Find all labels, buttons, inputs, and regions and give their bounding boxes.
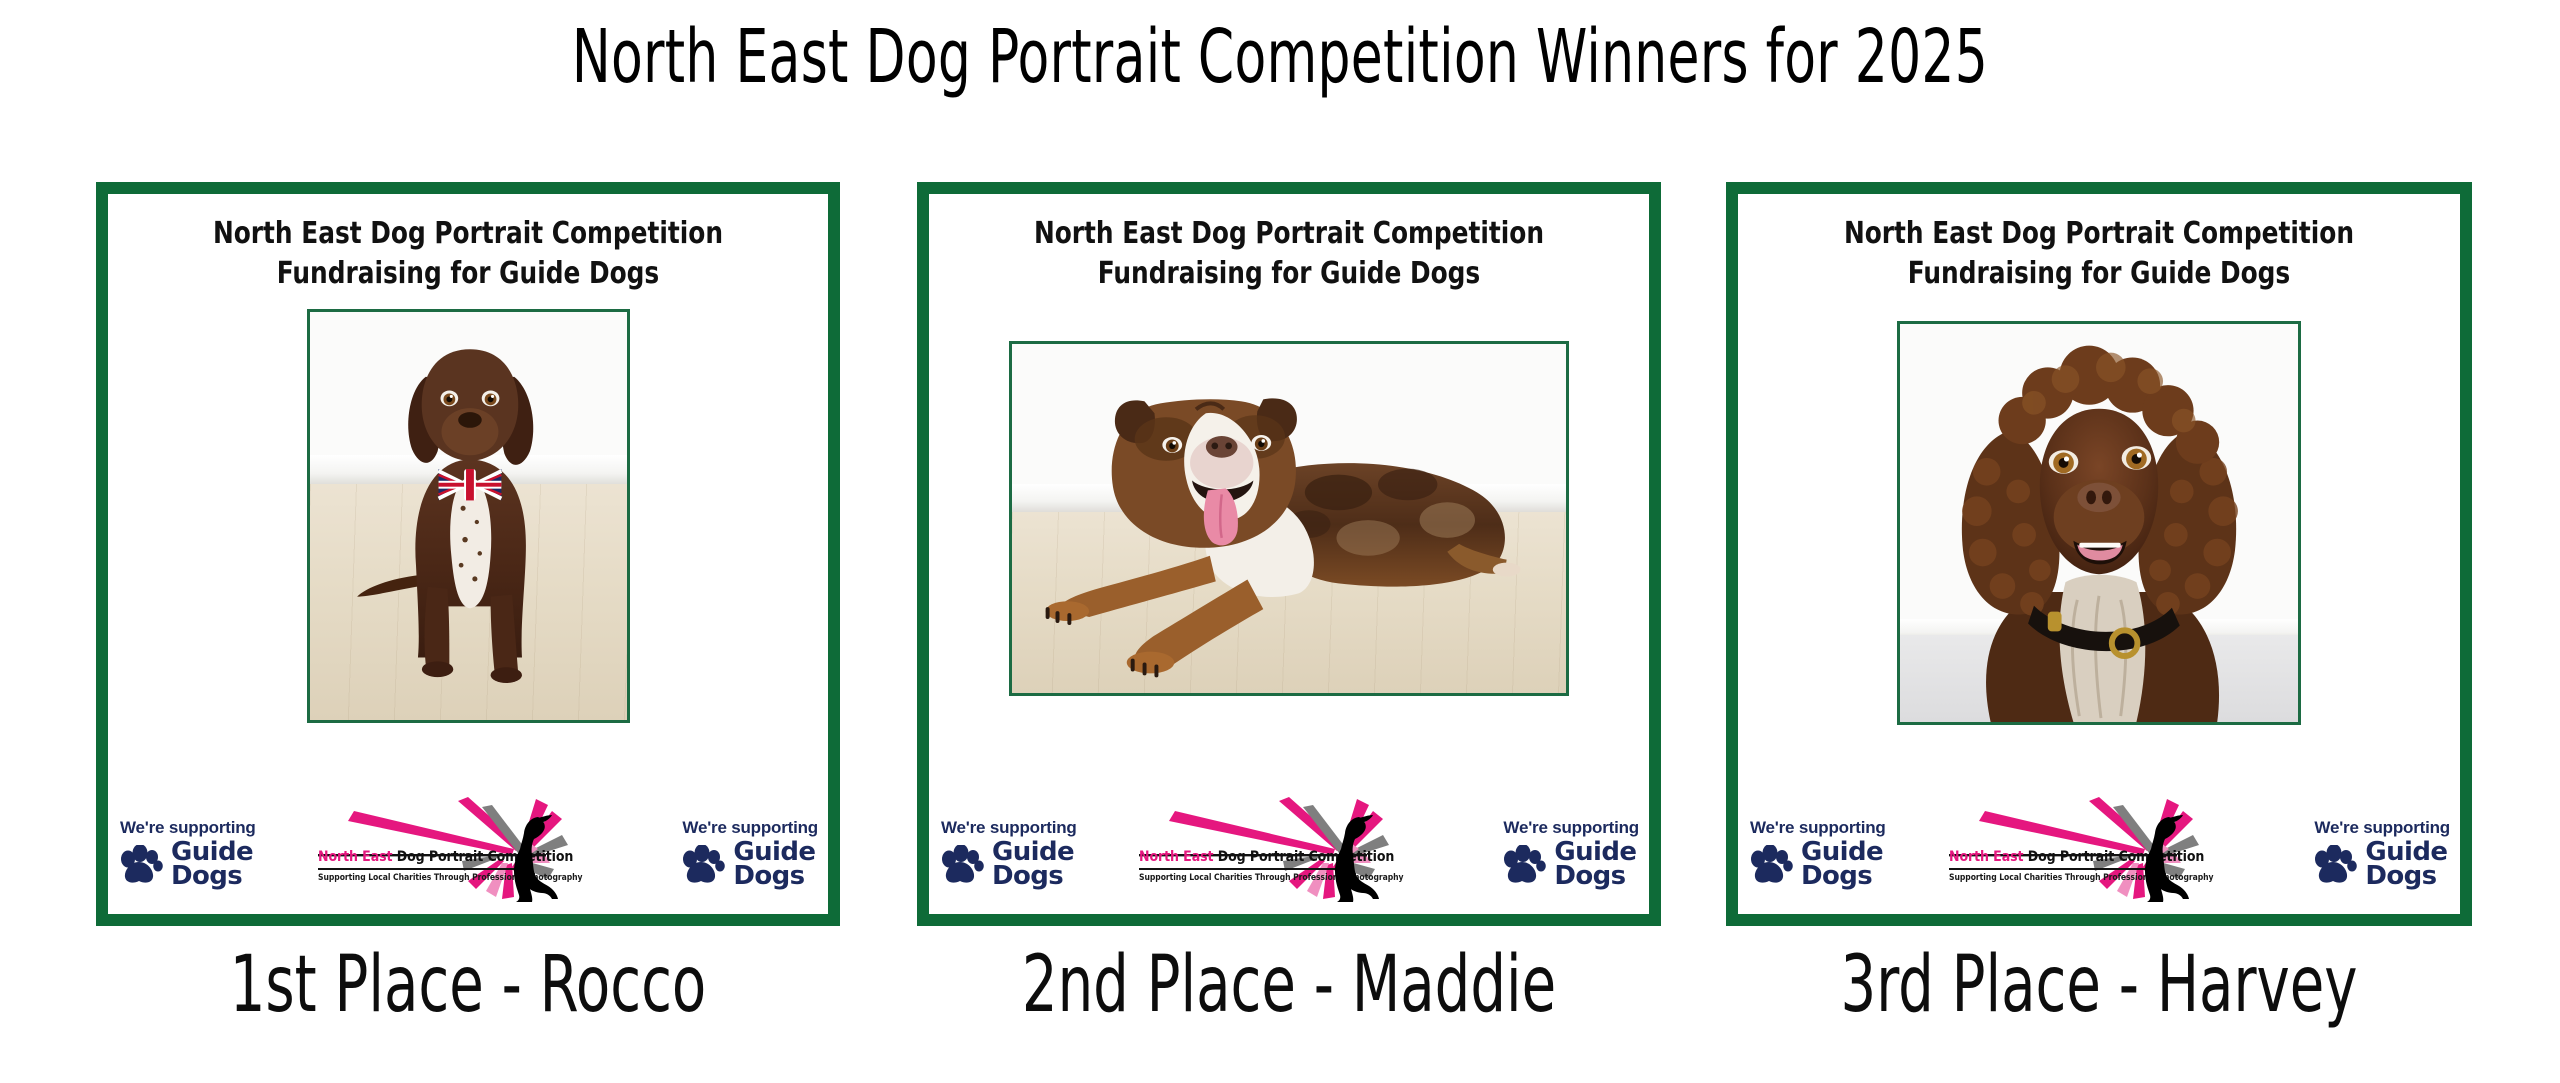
poster-header-line1: North East Dog Portrait Competition — [1767, 214, 2431, 254]
page-title: North East Dog Portrait Competition Winn… — [282, 14, 2279, 100]
competition-title-pink: North East — [1139, 849, 1213, 865]
guide-dogs-logo-right: We're supporting Guide Dogs — [1501, 818, 1639, 889]
competition-tagline: Supporting Local Charities Through Profe… — [1949, 873, 2163, 883]
paw-print-icon — [1748, 845, 1794, 885]
competition-tagline: Supporting Local Charities Through Profe… — [1139, 873, 1353, 883]
poster-header-line2: Fundraising for Guide Dogs — [137, 254, 799, 294]
sitting-dog-silhouette-icon — [508, 815, 560, 907]
guide-dogs-line2: Dogs — [2365, 865, 2447, 889]
photo-scene — [1900, 324, 2298, 722]
competition-logo-rule — [318, 868, 532, 870]
winner-captions: 1st Place - Rocco 2nd Place - Maddie 3rd… — [0, 940, 2560, 1070]
supporting-text-left: We're supporting — [941, 818, 1077, 838]
guide-dogs-line2: Dogs — [171, 865, 253, 889]
supporting-text-right: We're supporting — [682, 818, 818, 838]
supporting-text-right: We're supporting — [2314, 818, 2450, 838]
guide-dogs-logo-left: We're supporting Guide Dogs — [1748, 818, 1886, 889]
paw-print-icon — [939, 845, 985, 885]
winners-gallery: North East Dog Portrait Competition Fund… — [0, 182, 2560, 930]
competition-title-pink: North East — [1949, 849, 2023, 865]
poster-header: North East Dog Portrait Competition Fund… — [958, 194, 1620, 293]
photo-scene — [1012, 344, 1566, 693]
supporting-text-left: We're supporting — [1750, 818, 1886, 838]
dog-photo-1st[interactable] — [307, 309, 630, 723]
competition-logo-text: North East Dog Portrait Competition Supp… — [318, 850, 532, 883]
guide-dogs-line2: Dogs — [992, 865, 1074, 889]
winner-card-1st[interactable]: North East Dog Portrait Competition Fund… — [96, 182, 840, 926]
competition-logo: North East Dog Portrait Competition Supp… — [1949, 797, 2249, 909]
paw-print-icon — [680, 845, 726, 885]
paw-print-icon — [2312, 845, 2358, 885]
supporting-text-right: We're supporting — [1503, 818, 1639, 838]
competition-tagline: Supporting Local Charities Through Profe… — [318, 873, 532, 883]
poster-header-line2: Fundraising for Guide Dogs — [958, 254, 1620, 294]
poster-header-line1: North East Dog Portrait Competition — [137, 214, 799, 254]
sitting-dog-silhouette-icon — [2139, 815, 2191, 907]
poster-header: North East Dog Portrait Competition Fund… — [1767, 194, 2431, 293]
paw-print-icon — [1501, 845, 1547, 885]
guide-dogs-line2: Dogs — [1801, 865, 1883, 889]
poster-header: North East Dog Portrait Competition Fund… — [137, 194, 799, 293]
dog-photo-2nd[interactable] — [1009, 341, 1569, 696]
sponsor-footer: We're supporting Guide Dogs — [929, 798, 1649, 914]
guide-dogs-line2: Dogs — [1554, 865, 1636, 889]
photo-scene — [310, 312, 627, 720]
dog-photo-3rd[interactable] — [1897, 321, 2301, 725]
guide-dogs-logo-left: We're supporting Guide Dogs — [118, 818, 256, 889]
winner-card-3rd[interactable]: North East Dog Portrait Competition Fund… — [1726, 182, 2472, 926]
competition-logo-rule — [1949, 868, 2163, 870]
competition-logo: North East Dog Portrait Competition Supp… — [1139, 797, 1439, 909]
sponsor-footer: We're supporting Guide Dogs — [1738, 798, 2460, 914]
supporting-text-left: We're supporting — [120, 818, 256, 838]
competition-logo-rule — [1139, 868, 1353, 870]
guide-dogs-logo-right: We're supporting Guide Dogs — [680, 818, 818, 889]
winner-caption-2nd: 2nd Place - Maddie — [991, 940, 1586, 1030]
guide-dogs-logo-left: We're supporting Guide Dogs — [939, 818, 1077, 889]
winner-card-2nd[interactable]: North East Dog Portrait Competition Fund… — [917, 182, 1661, 926]
competition-logo-text: North East Dog Portrait Competition Supp… — [1949, 850, 2163, 883]
competition-logo-text: North East Dog Portrait Competition Supp… — [1139, 850, 1353, 883]
sponsor-footer: We're supporting Guide Dogs — [108, 798, 828, 914]
dog-illustration-harvey — [1900, 324, 2298, 722]
dog-illustration-maddie — [1012, 344, 1566, 695]
competition-title-pink: North East — [318, 849, 392, 865]
winner-caption-3rd: 3rd Place - Harvey — [1801, 940, 2398, 1030]
poster-header-line2: Fundraising for Guide Dogs — [1767, 254, 2431, 294]
guide-dogs-logo-right: We're supporting Guide Dogs — [2312, 818, 2450, 889]
dog-illustration-rocco — [310, 312, 627, 718]
sitting-dog-silhouette-icon — [1329, 815, 1381, 907]
poster-header-line1: North East Dog Portrait Competition — [958, 214, 1620, 254]
competition-logo: North East Dog Portrait Competition Supp… — [318, 797, 618, 909]
paw-print-icon — [118, 845, 164, 885]
winner-caption-1st: 1st Place - Rocco — [170, 940, 765, 1030]
guide-dogs-line2: Dogs — [733, 865, 815, 889]
union-jack-bow-tie-icon — [438, 469, 501, 500]
